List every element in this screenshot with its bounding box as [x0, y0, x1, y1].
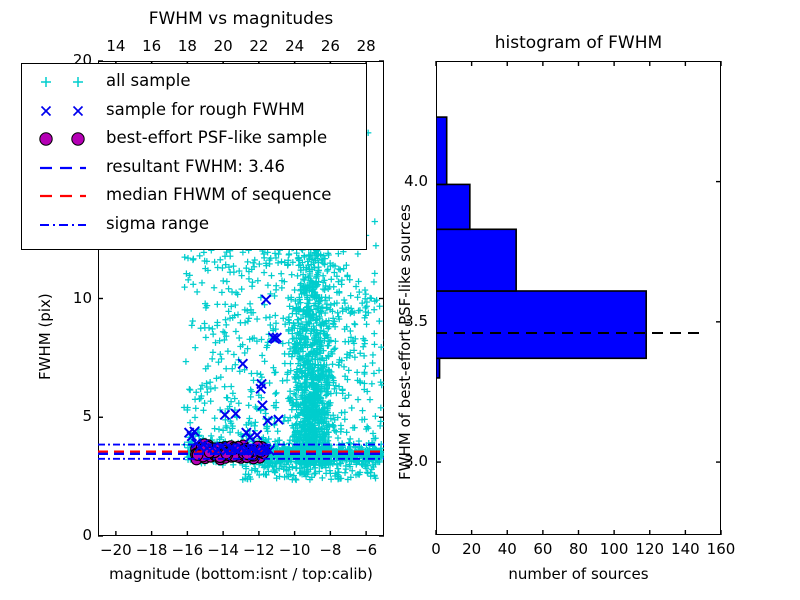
legend-marker-dashed-icon — [28, 182, 106, 211]
left-top-xtick-label: 24 — [277, 37, 313, 55]
legend-item-3[interactable]: resultant FWHM: 3.46 — [28, 154, 358, 183]
legend-item-5[interactable]: sigma range — [28, 211, 358, 240]
left-xtick-label: −6 — [345, 541, 387, 559]
right-yaxis-label: FWHM of best-effort PSF-like sources — [396, 204, 414, 480]
left-top-xtick-label: 20 — [205, 37, 241, 55]
legend-marker-plus-icon — [28, 68, 106, 97]
right-xtick-label: 100 — [594, 540, 634, 558]
legend-label: all sample — [106, 73, 191, 92]
legend-item-0[interactable]: all sample — [28, 68, 358, 97]
legend-marker-dashdot-icon — [28, 211, 106, 240]
right-ytick-label: 3.0 — [384, 452, 428, 470]
right-ytick-label: 4.0 — [384, 172, 428, 190]
right-xtick-label: 120 — [630, 540, 670, 558]
legend-marker-circle-icon — [28, 125, 106, 154]
right-xaxis-label: number of sources — [436, 565, 721, 583]
legend-label: sigma range — [106, 216, 209, 235]
left-top-xtick-label: 14 — [98, 37, 134, 55]
left-ytick-label: 0 — [50, 526, 92, 544]
left-ytick-label: 5 — [50, 407, 92, 425]
legend-item-1[interactable]: sample for rough FWHM — [28, 97, 358, 126]
figure-canvas: FWHM vs magnitudes magnitude (bottom:isn… — [0, 0, 800, 600]
left-top-xtick-label: 18 — [169, 37, 205, 55]
right-xtick-label: 160 — [701, 540, 741, 558]
right-xtick-label: 0 — [416, 540, 456, 558]
left-top-xtick-label: 16 — [134, 37, 170, 55]
legend-label: best-effort PSF-like sample — [106, 130, 327, 149]
legend-label: median FHWM of sequence — [106, 187, 331, 206]
right-xtick-label: 80 — [559, 540, 599, 558]
legend-label: resultant FWHM: 3.46 — [106, 159, 285, 178]
left-top-xtick-label: 22 — [241, 37, 277, 55]
right-xtick-label: 140 — [665, 540, 705, 558]
legend-label: sample for rough FWHM — [106, 102, 305, 121]
legend-marker-cross-icon — [28, 97, 106, 126]
legend[interactable]: all samplesample for rough FWHMbest-effo… — [21, 63, 367, 250]
legend-marker-dashed-icon — [28, 154, 106, 183]
right-xtick-label: 60 — [523, 540, 563, 558]
left-ytick-label: 10 — [50, 289, 92, 307]
right-xtick-label: 20 — [452, 540, 492, 558]
left-top-xtick-label: 28 — [348, 37, 384, 55]
legend-item-2[interactable]: best-effort PSF-like sample — [28, 125, 358, 154]
right-xtick-label: 40 — [487, 540, 527, 558]
legend-item-4[interactable]: median FHWM of sequence — [28, 182, 358, 211]
right-ytick-label: 3.5 — [384, 312, 428, 330]
left-top-xtick-label: 26 — [312, 37, 348, 55]
